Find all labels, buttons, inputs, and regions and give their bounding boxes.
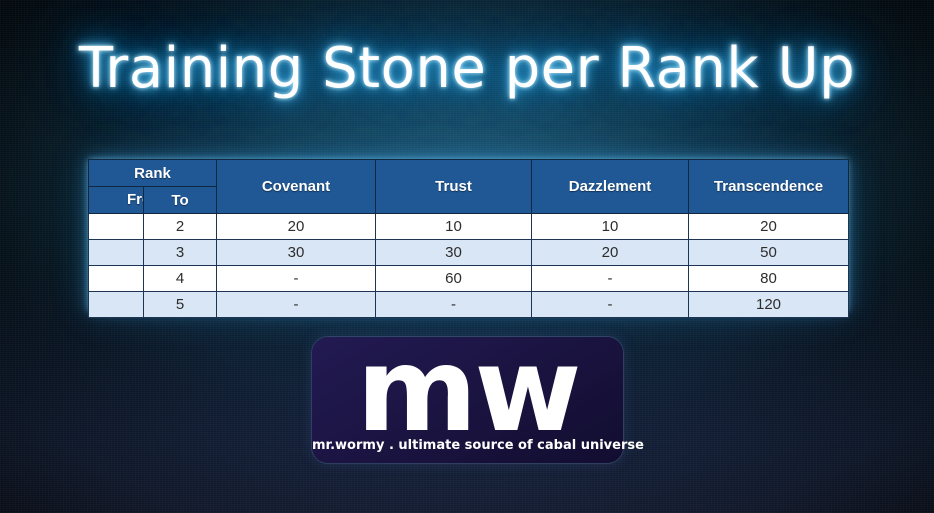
- cell-transcendence: 20: [689, 214, 849, 240]
- table-row: 3 30 30 20 50: [89, 240, 849, 266]
- logo-mark: mw: [312, 331, 623, 451]
- cell-transcendence: 120: [689, 292, 849, 318]
- cell-rank-from: [89, 266, 144, 292]
- cell-trust: 30: [376, 240, 532, 266]
- infographic-canvas: Training Stone per Rank Up mw mr.wormy .…: [0, 0, 934, 513]
- cell-rank-to: 5: [144, 292, 217, 318]
- mrwormy-logo: mw mr.wormy . ultimate source of cabal u…: [312, 337, 623, 463]
- cell-trust: 60: [376, 266, 532, 292]
- logo-tagline: mr.wormy . ultimate source of cabal univ…: [312, 438, 623, 453]
- cell-rank-to: 4: [144, 266, 217, 292]
- cell-rank-from: [89, 240, 144, 266]
- cell-covenant: 30: [217, 240, 376, 266]
- header-dazzlement: Dazzlement: [532, 160, 689, 214]
- cell-dazzlement: -: [532, 292, 689, 318]
- header-rank-from-label: From: [127, 191, 144, 208]
- cell-rank-to: 2: [144, 214, 217, 240]
- header-rank: Rank: [89, 160, 217, 187]
- cell-covenant: -: [217, 266, 376, 292]
- table-row: 2 20 10 10 20: [89, 214, 849, 240]
- cell-transcendence: 50: [689, 240, 849, 266]
- table-body: 2 20 10 10 20 3 30 30 20 50 4 - 60 - 80: [89, 214, 849, 318]
- cell-dazzlement: 20: [532, 240, 689, 266]
- cell-dazzlement: -: [532, 266, 689, 292]
- cell-transcendence: 80: [689, 266, 849, 292]
- header-transcendence: Transcendence: [689, 160, 849, 214]
- header-rank-to: To: [144, 187, 217, 214]
- cell-rank-to: 3: [144, 240, 217, 266]
- cell-covenant: 20: [217, 214, 376, 240]
- table-row: 4 - 60 - 80: [89, 266, 849, 292]
- cell-dazzlement: 10: [532, 214, 689, 240]
- header-covenant: Covenant: [217, 160, 376, 214]
- table-row: 5 - - - 120: [89, 292, 849, 318]
- header-trust: Trust: [376, 160, 532, 214]
- header-rank-from: From: [89, 187, 144, 214]
- table-header-row-1: Rank Covenant Trust Dazzlement Transcend…: [89, 160, 849, 187]
- cell-trust: 10: [376, 214, 532, 240]
- cell-trust: -: [376, 292, 532, 318]
- cell-rank-from: [89, 214, 144, 240]
- cell-rank-from: [89, 292, 144, 318]
- training-stone-table: Rank Covenant Trust Dazzlement Transcend…: [88, 159, 849, 318]
- cell-covenant: -: [217, 292, 376, 318]
- table-header: Rank Covenant Trust Dazzlement Transcend…: [89, 160, 849, 214]
- page-title: Training Stone per Rank Up: [0, 33, 934, 105]
